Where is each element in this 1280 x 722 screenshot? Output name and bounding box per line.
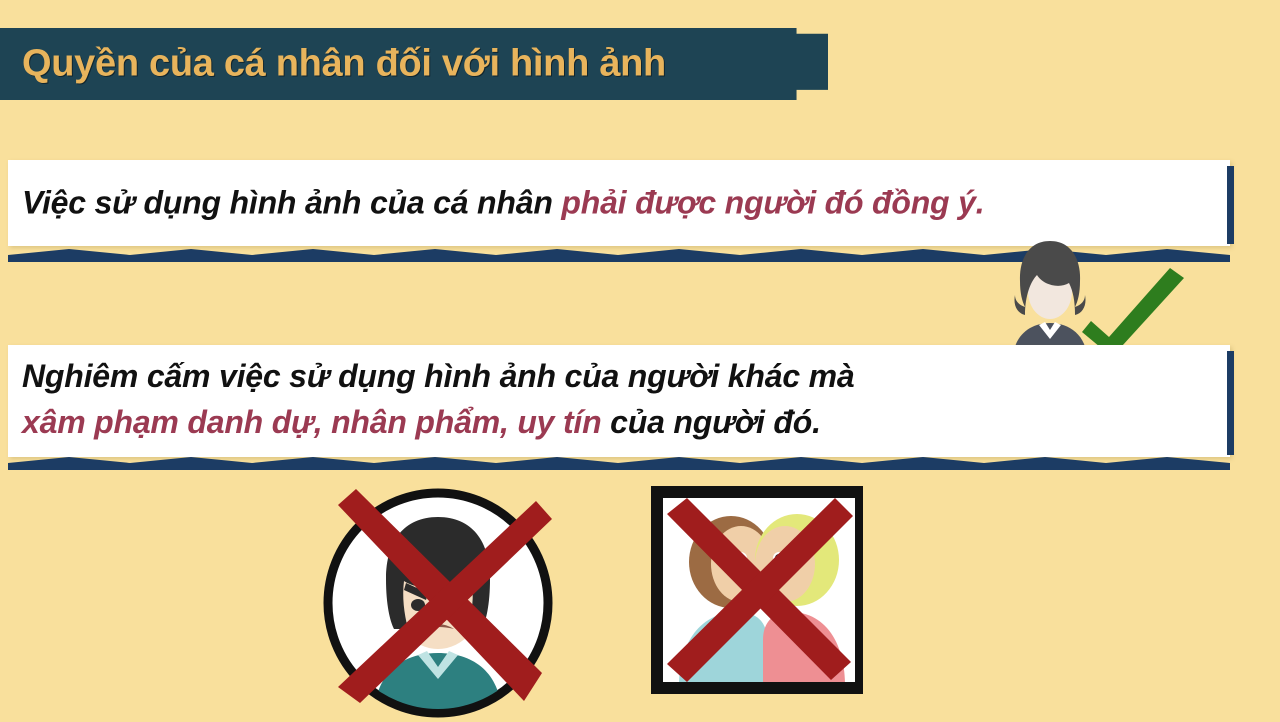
statement-one-text-emphasis: phải được người đó đồng ý. [561,185,984,221]
two-people-photo-forbidden-figure [645,480,877,708]
statement-two-line2-plain: của người đó. [601,404,820,440]
statement-two-line2-emphasis: xâm phạm danh dự, nhân phẩm, uy tín [22,404,601,440]
two-people-photo-forbidden-svg [645,480,877,708]
title-banner: Quyền của cá nhân đối với hình ảnh [0,28,828,100]
statement-two-right-bar [1227,351,1234,455]
statement-one-right-bar [1227,166,1234,244]
wave-divider-two [8,452,1230,472]
woman-avatar-approved-figure [985,235,1195,360]
statement-block-one: Việc sử dụng hình ảnh của cá nhân phải đ… [8,160,1230,246]
statement-one-text-plain: Việc sử dụng hình ảnh của cá nhân [22,185,561,221]
statement-one-line: Việc sử dụng hình ảnh của cá nhân phải đ… [22,185,984,222]
statement-two-line-2: xâm phạm danh dự, nhân phẩm, uy tín của … [22,399,854,445]
woman-avatar-approved-svg [985,235,1195,360]
statement-two-lines: Nghiêm cấm việc sử dụng hình ảnh của ngư… [22,353,854,446]
statement-block-two: Nghiêm cấm việc sử dụng hình ảnh của ngư… [8,345,1230,457]
wave-divider-two-svg [8,452,1230,470]
slide-canvas: Quyền của cá nhân đối với hình ảnh Việc … [0,0,1280,722]
angry-face-avatar-forbidden-figure [322,487,554,719]
page-title: Quyền của cá nhân đối với hình ảnh [22,43,666,86]
angry-face-avatar-forbidden-svg [322,487,554,719]
check-mark-icon [1082,268,1184,357]
statement-two-line-1: Nghiêm cấm việc sử dụng hình ảnh của ngư… [22,353,854,399]
statement-two-line1-text: Nghiêm cấm việc sử dụng hình ảnh của ngư… [22,358,854,394]
